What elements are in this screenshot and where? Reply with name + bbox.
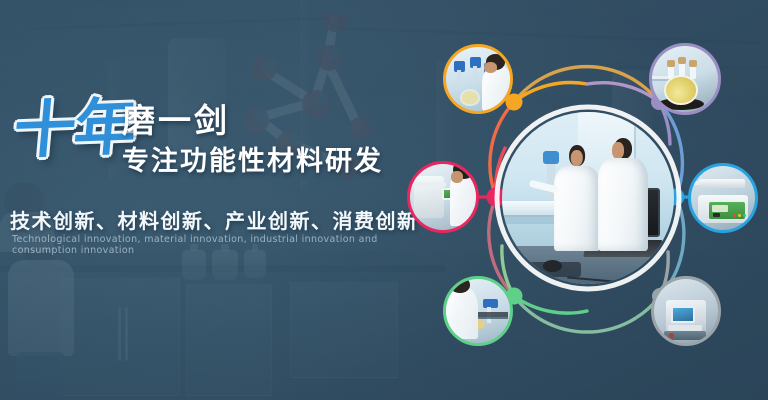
photo-circle-cluster <box>404 34 768 368</box>
satellite-photo-chemist-fume-hood <box>446 47 510 111</box>
headline-block: 十年 磨一剑 专注功能性材料研发 技术创新、材料创新、产业创新、消费创新 Tec… <box>0 0 420 400</box>
scientist-left <box>554 145 600 252</box>
satellite-photo-coating-machine <box>691 166 755 230</box>
satellite-photo-analysis-instrument <box>654 279 718 343</box>
headline-line-1: 磨一剑 <box>122 104 230 137</box>
accent-headline: 十年 <box>11 96 137 162</box>
satellite-photo-reaction-flask <box>652 46 718 112</box>
headline-line-2: 专注功能性材料研发 <box>122 148 383 175</box>
subtitle-chinese: 技术创新、材料创新、产业创新、消费创新 <box>10 205 419 234</box>
promotional-banner: 十年 磨一剑 专注功能性材料研发 技术创新、材料创新、产业创新、消费创新 Tec… <box>0 0 768 400</box>
satellite-photo-sample-prep <box>446 279 510 343</box>
satellite-photo-testing-equipment <box>410 164 476 230</box>
headline-row: 十年 磨一剑 专注功能性材料研发 <box>14 104 414 192</box>
center-photo-scientists <box>502 112 674 284</box>
scientist-right <box>598 138 648 252</box>
subtitle-english: Technological innovation, material innov… <box>12 234 420 256</box>
